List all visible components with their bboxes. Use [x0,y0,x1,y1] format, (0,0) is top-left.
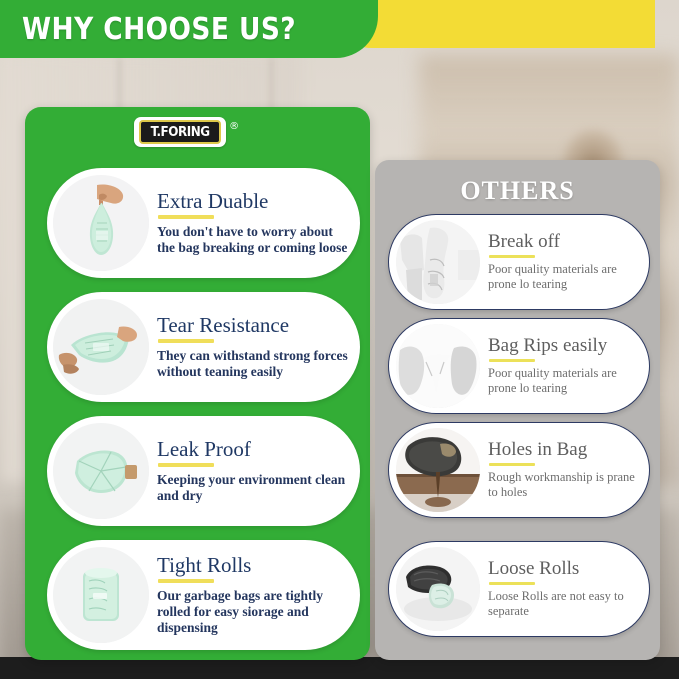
header-yellow-shape [330,0,655,48]
loose-rolls-icon [396,547,480,631]
card-description: Rough workmanship is prane to holes [488,470,639,500]
leaking-bag-icon [396,428,480,512]
card-description: Poor quality materials are prone lo tear… [488,262,639,292]
card-title: Tear Resistance [157,314,350,337]
card-title: Loose Rolls [488,559,639,580]
others-card-bag-rips-easily[interactable]: Bag Rips easily Poor quality materials a… [388,318,650,414]
title-underline-accent [489,463,535,467]
card-title: Break off [488,232,639,253]
ours-card-leak-proof[interactable]: Leak Proof Keeping your environment clea… [47,416,360,526]
ours-card-text: Extra Duable You don't have to worry abo… [149,190,360,257]
card-title: Tight Rolls [157,554,350,577]
card-title: Leak Proof [157,438,350,461]
title-underline-accent [489,255,535,259]
title-underline-accent [158,215,214,219]
ours-card-text: Leak Proof Keeping your environment clea… [149,438,360,505]
hands-stretching-bag-icon [53,299,149,395]
ours-card-tear-resistance[interactable]: Tear Resistance They can withstand stron… [47,292,360,402]
brand-logo-inner: T.FORING [139,120,221,144]
others-card-loose-rolls[interactable]: Loose Rolls Loose Rolls are not easy to … [388,541,650,637]
title-underline-accent [158,579,214,583]
title-underline-accent [489,582,535,586]
bag-bottom-seal-icon [53,423,149,519]
others-card-text: Bag Rips easily Poor quality materials a… [480,336,649,396]
others-card-text: Holes in Bag Rough workmanship is prane … [480,440,649,500]
background-bottom-edge [0,657,679,679]
infographic-canvas: WHY CHOOSE US? T.FORING ® OTHERS [0,0,679,679]
ours-card-text: Tear Resistance They can withstand stron… [149,314,360,381]
card-title: Holes in Bag [488,440,639,461]
card-title: Bag Rips easily [488,336,639,357]
title-underline-accent [489,359,535,363]
others-card-text: Loose Rolls Loose Rolls are not easy to … [480,559,649,619]
card-description: Our garbage bags are tightly rolled for … [157,588,350,636]
card-description: Poor quality materials are prone lo tear… [488,366,639,396]
others-card-text: Break off Poor quality materials are pro… [480,232,649,292]
registered-trademark-icon: ® [229,121,239,132]
title-underline-accent [158,463,214,467]
card-title: Extra Duable [157,190,350,213]
card-description: Loose Rolls are not easy to separate [488,589,639,619]
ours-card-tight-rolls[interactable]: Tight Rolls Our garbage bags are tightly… [47,540,360,650]
others-card-holes-in-bag[interactable]: Holes in Bag Rough workmanship is prane … [388,422,650,518]
bag-roll-icon [53,547,149,643]
page-title: WHY CHOOSE US? [22,12,296,47]
others-card-break-off[interactable]: Break off Poor quality materials are pro… [388,214,650,310]
card-description: You don't have to worry about the bag br… [157,224,350,256]
broken-bag-icon [396,220,480,304]
card-description: Keeping your environment clean and dry [157,472,350,504]
ours-card-extra-duable[interactable]: Extra Duable You don't have to worry abo… [47,168,360,278]
ours-card-text: Tight Rolls Our garbage bags are tightly… [149,554,360,636]
hand-holding-bag-icon [53,175,149,271]
brand-logo: T.FORING ® [134,117,239,147]
others-heading: OTHERS [375,176,660,206]
brand-logo-plate: T.FORING [134,117,226,147]
card-description: They can withstand strong forces without… [157,348,350,380]
title-underline-accent [158,339,214,343]
ripped-bag-icon [396,324,480,408]
brand-name: T.FORING [151,125,210,140]
